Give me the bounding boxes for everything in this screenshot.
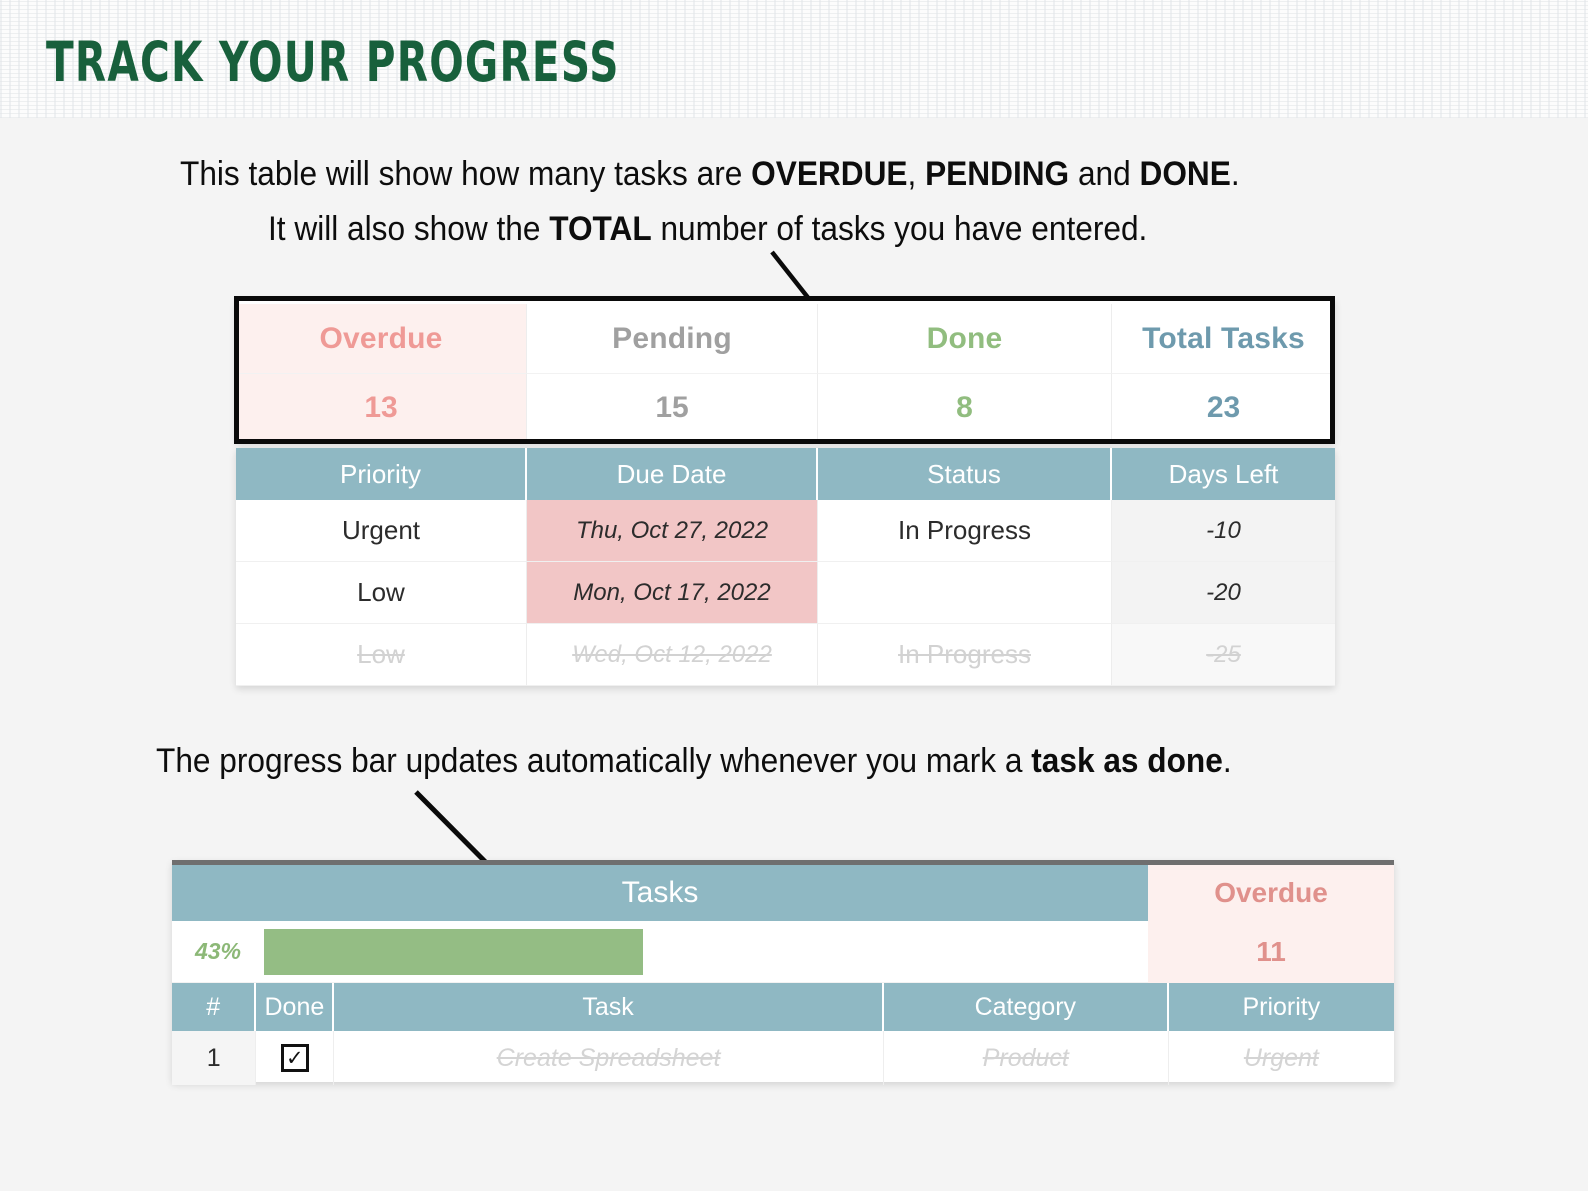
intro-text-2c: number of tasks you have entered. [652, 210, 1148, 248]
page-title: TRACK YOUR PROGRESS [46, 30, 620, 94]
summary-header-done: Done [818, 304, 1112, 373]
progress-bar-container: 43% [172, 921, 1148, 983]
tasklist-header-category: Category [884, 983, 1169, 1031]
detail-cell-priority[interactable]: Low [236, 624, 527, 686]
intro-text-1g: . [1231, 155, 1240, 193]
progress-note-emph: task as done [1031, 742, 1223, 780]
tasklist-cell-priority[interactable]: Urgent [1169, 1031, 1394, 1085]
detail-cell-days-left[interactable]: -20 [1112, 562, 1335, 624]
detail-cell-due-date[interactable]: Mon, Oct 17, 2022 [527, 562, 818, 624]
tasklist-header-task: Task [334, 983, 883, 1031]
summary-value-total-tasks: 23 [1112, 373, 1335, 442]
table-row[interactable]: 1 ✓ Create Spreadsheet Product Urgent [172, 1031, 1394, 1085]
detail-cell-days-left[interactable]: -10 [1112, 500, 1335, 562]
progress-note-text-c: . [1223, 742, 1232, 780]
detail-cell-days-left[interactable]: -25 [1112, 624, 1335, 686]
detail-cell-due-date[interactable]: Wed, Oct 12, 2022 [527, 624, 818, 686]
summary-header-pending: Pending [527, 304, 818, 373]
intro-text-2a: It will also show the [268, 210, 549, 248]
summary-value-pending: 15 [527, 373, 818, 442]
progress-percent-label: 43% [172, 938, 264, 965]
summary-table: Overdue Pending Done Total Tasks 13 15 8… [236, 298, 1335, 442]
progress-bar-track [264, 929, 1146, 975]
tasks-progress-table: Tasks Overdue 43% 11 # Done Task Categor… [172, 860, 1394, 1082]
tasks-overdue-count: 11 [1148, 921, 1394, 983]
tasklist-cell-number: 1 [172, 1031, 256, 1085]
intro-emph-pending: PENDING [925, 155, 1069, 193]
detail-cell-due-date[interactable]: Thu, Oct 27, 2022 [527, 500, 818, 562]
intro-line-2: It will also show the TOTAL number of ta… [268, 210, 1147, 249]
detail-header-due-date: Due Date [527, 448, 818, 500]
detail-cell-status[interactable]: In Progress [818, 500, 1112, 562]
intro-emph-overdue: OVERDUE [751, 155, 907, 193]
summary-header-total-tasks: Total Tasks [1112, 304, 1335, 373]
intro-emph-done: DONE [1139, 155, 1230, 193]
detail-header-row: Priority Due Date Status Days Left [236, 448, 1335, 500]
detail-header-days-left: Days Left [1112, 448, 1335, 500]
tasklist-header-done: Done [256, 983, 334, 1031]
progress-note: The progress bar updates automatically w… [156, 742, 1232, 781]
intro-text-1e: and [1069, 155, 1139, 193]
table-row[interactable]: Low Wed, Oct 12, 2022 In Progress -25 [236, 624, 1335, 686]
tasks-overdue-header: Overdue [1148, 865, 1394, 921]
task-detail-table: Priority Due Date Status Days Left Urgen… [236, 448, 1335, 686]
summary-value-row: 13 15 8 23 [236, 373, 1335, 442]
detail-cell-priority[interactable]: Urgent [236, 500, 527, 562]
checkbox-checked-icon[interactable]: ✓ [281, 1044, 309, 1072]
progress-note-text-a: The progress bar updates automatically w… [156, 742, 1031, 780]
detail-cell-status[interactable]: In Progress [818, 624, 1112, 686]
tasklist-cell-done[interactable]: ✓ [256, 1031, 334, 1085]
detail-cell-status[interactable] [818, 562, 1112, 624]
tasklist-cell-category[interactable]: Product [884, 1031, 1169, 1085]
intro-emph-total: TOTAL [549, 210, 651, 248]
summary-value-overdue: 13 [236, 373, 527, 442]
tasks-title-header: Tasks [172, 865, 1148, 921]
intro-line-1: This table will show how many tasks are … [180, 155, 1240, 194]
tasklist-header-priority: Priority [1169, 983, 1394, 1031]
tasklist-cell-task[interactable]: Create Spreadsheet [334, 1031, 884, 1085]
table-row[interactable]: Urgent Thu, Oct 27, 2022 In Progress -10 [236, 500, 1335, 562]
tasklist-header-row: # Done Task Category Priority [172, 983, 1394, 1031]
summary-value-done: 8 [818, 373, 1112, 442]
progress-row: 43% 11 [172, 921, 1394, 983]
intro-text-1c: , [908, 155, 926, 193]
summary-header-row: Overdue Pending Done Total Tasks [236, 304, 1335, 373]
progress-bar-fill [264, 929, 643, 975]
tasks-title-row: Tasks Overdue [172, 865, 1394, 921]
tasklist-header-number: # [172, 983, 256, 1031]
detail-header-priority: Priority [236, 448, 527, 500]
table-row[interactable]: Low Mon, Oct 17, 2022 -20 [236, 562, 1335, 624]
intro-text-1a: This table will show how many tasks are [180, 155, 751, 193]
detail-header-status: Status [818, 448, 1112, 500]
summary-header-overdue: Overdue [236, 304, 527, 373]
detail-cell-priority[interactable]: Low [236, 562, 527, 624]
